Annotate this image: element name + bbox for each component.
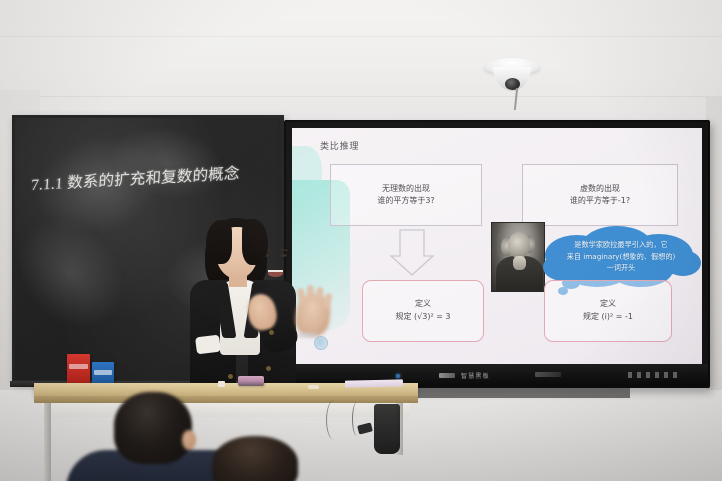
chalk-smudge — [0, 197, 145, 350]
ceiling-seam — [0, 36, 722, 37]
portrait-collar — [513, 256, 526, 270]
desk-leg-left — [44, 403, 51, 481]
interactive-flat-panel[interactable]: 类比推理 无理数的出现 谁的平方等于3? 虚数的出现 谁的平方等于-1? — [284, 120, 710, 388]
teacher-mouth — [268, 270, 283, 277]
cloud-callout-text: 是数学家欧拉最早引入的，它 来自 imaginary(想象的、假想的) 一词开头 — [547, 239, 695, 274]
ceiling-seam-lower — [0, 96, 722, 97]
power-indicator-icon — [396, 374, 400, 378]
definition-right-text: 定义规定 (i)² = -1 — [583, 298, 633, 324]
chalk-box-red — [67, 354, 90, 386]
definition-left-title: 定义 — [415, 299, 431, 308]
teacher-hair-front-left — [206, 220, 232, 264]
chalk-stick — [308, 385, 319, 389]
portrait-head — [508, 232, 530, 258]
power-cable — [326, 400, 342, 440]
slide-title: 类比推理 — [320, 139, 359, 152]
paper-stack — [345, 379, 403, 387]
student-front-center — [196, 436, 312, 481]
teacher-eye-right — [280, 254, 287, 257]
teacher-wristband — [298, 332, 318, 338]
teacher-hair-front-right — [242, 219, 268, 265]
teacher-jacket-button — [228, 374, 233, 379]
blackboard-eraser — [238, 376, 264, 386]
teacher-jacket-button — [266, 366, 271, 371]
student-head — [212, 436, 298, 481]
down-arrow-icon — [388, 228, 436, 278]
teacher-presenting — [178, 218, 338, 393]
display-control-buttons[interactable] — [628, 372, 680, 378]
desk-small-item — [218, 381, 225, 387]
student-ear — [182, 430, 196, 450]
display-brand-text: 智慧黑板 — [461, 371, 490, 380]
question-box-left: 无理数的出现 谁的平方等于3? — [330, 164, 482, 226]
cable-bundle — [374, 404, 400, 454]
question-right-text: 虚数的出现 谁的平方等于-1? — [570, 183, 630, 208]
teacher-finger — [307, 285, 315, 301]
definition-box-left: 定义规定 (√3)² = 3 — [362, 280, 484, 342]
teacher-jacket-button — [269, 330, 274, 335]
blackboard-handwriting: 7.1.1 数系的扩充和复数的概念 — [30, 159, 283, 195]
definition-right-body: 规定 (i)² = -1 — [583, 312, 633, 321]
camera-cable — [514, 88, 518, 110]
presentation-slide: 类比推理 无理数的出现 谁的平方等于3? 虚数的出现 谁的平方等于-1? — [292, 128, 702, 364]
question-left-text: 无理数的出现 谁的平方等于3? — [377, 183, 434, 208]
question-box-right: 虚数的出现 谁的平方等于-1? — [522, 164, 678, 226]
teacher-finger — [322, 292, 333, 309]
teacher-sleeve-cuff — [195, 335, 221, 355]
classroom-scene: 7.1.1 数系的扩充和复数的概念 类比推理 无理数的出现 谁的平方等于3? 虚… — [0, 0, 722, 481]
definition-left-body: 规定 (√3)² = 3 — [395, 312, 450, 321]
ceiling — [0, 0, 722, 116]
ceiling-dome-camera-icon — [484, 58, 540, 110]
definition-right-title: 定义 — [600, 299, 616, 308]
brand-logo-icon — [439, 373, 455, 378]
definition-left-text: 定义规定 (√3)² = 3 — [395, 298, 450, 324]
definition-box-right: 定义规定 (i)² = -1 — [544, 280, 672, 342]
teacher-finger — [297, 288, 307, 305]
display-ports[interactable] — [535, 372, 561, 377]
display-screen[interactable]: 类比推理 无理数的出现 谁的平方等于3? 虚数的出现 谁的平方等于-1? — [292, 128, 702, 364]
teacher-brow-right — [279, 249, 288, 252]
student-head — [114, 392, 192, 464]
